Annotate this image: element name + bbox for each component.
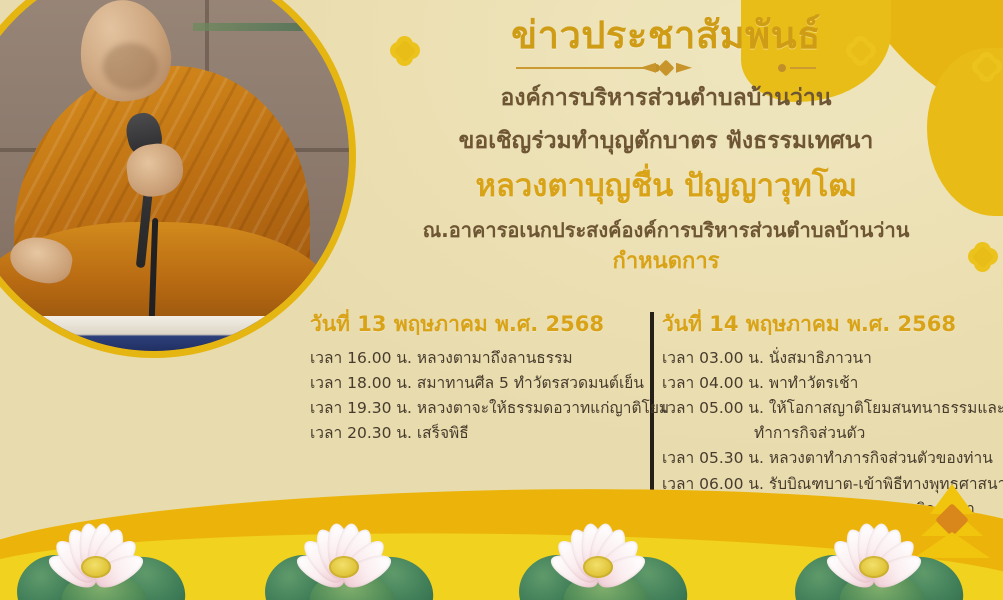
schedule-item: เวลา 04.00 น. พาทำวัตรเช้า xyxy=(662,371,1000,396)
schedule-item: เวลา 05.30 น. หลวงตาทำภารกิจส่วนตัวของท่… xyxy=(662,446,1000,471)
venue-text: ณ.อาคารอเนกประสงค์องค์การบริหารส่วนตำบลบ… xyxy=(352,215,980,245)
monk-name: หลวงตาบุญชื่น ปัญญาวุทโฒ xyxy=(352,164,980,209)
lotus-icon xyxy=(270,494,420,600)
schedule-item: เวลา 19.30 น. หลวงตาจะให้ธรรมดอวาทแก่ญาต… xyxy=(300,396,644,421)
schedule-item: เวลา 16.00 น. หลวงตามาถึงลานธรรม xyxy=(300,346,644,371)
schedule-column-day1: วันที่ 13 พฤษภาคม พ.ศ. 2568 เวลา 16.00 น… xyxy=(300,308,644,446)
lotus-icon xyxy=(524,494,674,600)
poster-canvas: ข่าวประชาสัมพันธ์ องค์การบริหารส่วนตำบลบ… xyxy=(0,0,1003,600)
monk-face-shadow xyxy=(103,43,158,90)
title-divider-ornament xyxy=(516,62,816,74)
headline-block: ข่าวประชาสัมพันธ์ องค์การบริหารส่วนตำบลบ… xyxy=(352,14,980,278)
schedule-item: เวลา 20.30 น. เสร็จพิธี xyxy=(300,421,644,446)
schedule-item: เวลา 05.00 น. ให้โอกาสญาติโยมสนทนาธรรมแล… xyxy=(662,396,1000,421)
schedule-item: เวลา 18.00 น. สมาทานศีล 5 ทำวัตรสวดมนต์เ… xyxy=(300,371,644,396)
page-title: ข่าวประชาสัมพันธ์ xyxy=(352,14,980,58)
schedule-date-day1: วันที่ 13 พฤษภาคม พ.ศ. 2568 xyxy=(300,308,644,341)
agenda-label: กำหนดการ xyxy=(352,247,980,278)
seat-cushion xyxy=(0,316,314,351)
schedule-item: เวลา 03.00 น. นั่งสมาธิภาวนา xyxy=(662,346,1000,371)
monk-portrait xyxy=(0,0,356,358)
portrait-image xyxy=(0,0,349,351)
portrait-wall-trim xyxy=(193,23,349,31)
schedule-item-continuation: ทำการกิจส่วนตัว xyxy=(662,421,1000,446)
lotus-icon xyxy=(22,494,172,600)
lotus-icon xyxy=(800,494,950,600)
organization-name: องค์การบริหารส่วนตำบลบ้านว่าน xyxy=(352,81,980,116)
schedule-date-day2: วันที่ 14 พฤษภาคม พ.ศ. 2568 xyxy=(662,308,1000,341)
invitation-text: ขอเชิญร่วมทำบุญตักบาตร ฟังธรรมเทศนา xyxy=(352,123,980,160)
